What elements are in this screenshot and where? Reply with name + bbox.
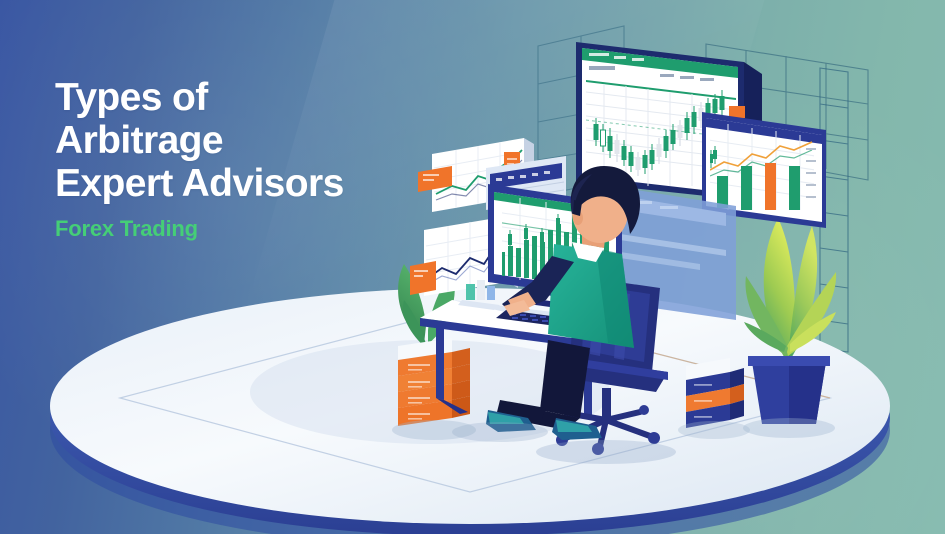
banner-stage: Types of Arbitrage Expert Advisors Forex… (0, 0, 945, 534)
shoe-shadow (452, 422, 548, 442)
page-subtitle: Forex Trading (55, 217, 415, 241)
title-line-2: Arbitrage (55, 119, 415, 162)
page-title: Types of Arbitrage Expert Advisors (55, 76, 415, 205)
title-line-1: Types of (55, 76, 415, 119)
title-line-3: Expert Advisors (55, 162, 415, 205)
headline-block: Types of Arbitrage Expert Advisors Forex… (55, 76, 415, 241)
tag-badge-bottom (410, 261, 436, 295)
price-marker-badge (729, 106, 745, 118)
box-stack-right (678, 358, 750, 439)
